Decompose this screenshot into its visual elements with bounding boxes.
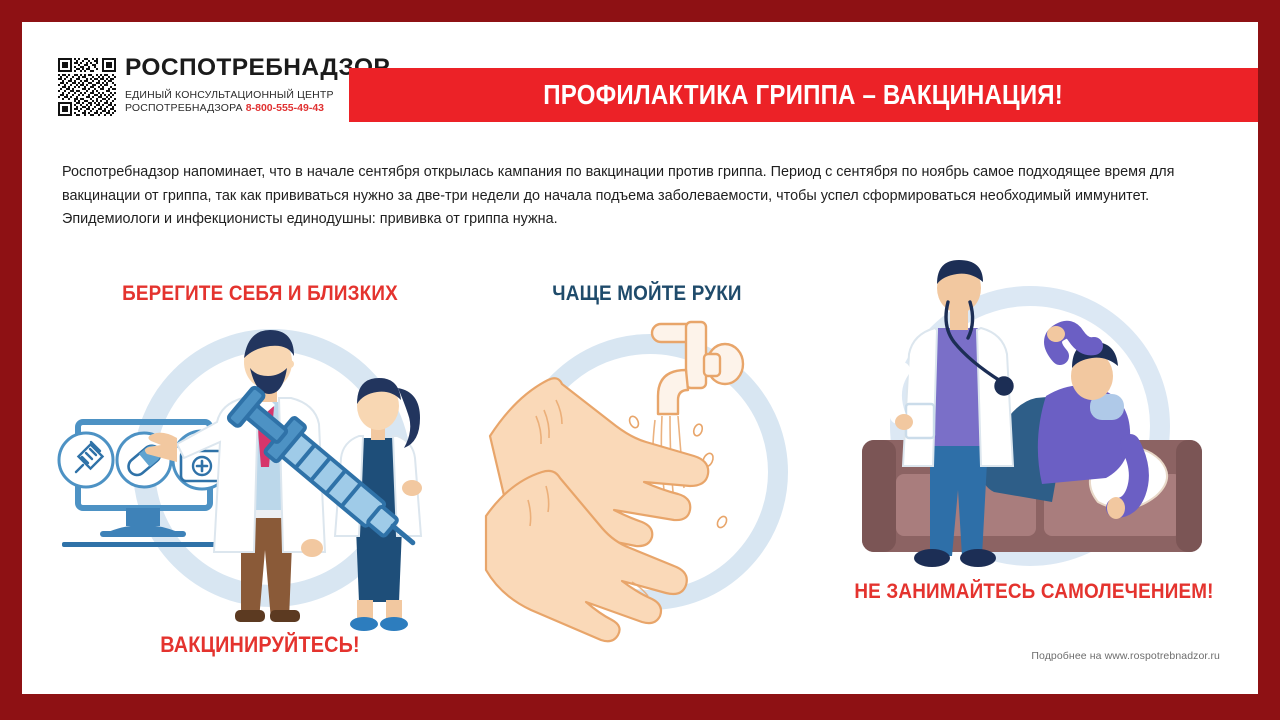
faucet-icon (652, 322, 743, 414)
illustration-doctor-patient (834, 258, 1234, 588)
footer-note: Подробнее на www.rospotrebnadzor.ru (1031, 650, 1220, 662)
panel-no-self-treatment-caption: НЕ ЗАНИМАЙТЕСЬ САМОЛЕЧЕНИЕМ! (854, 580, 1214, 604)
panel-handwashing-caption-top: ЧАЩЕ МОЙТЕ РУКИ (499, 282, 796, 306)
headline-banner: ПРОФИЛАКТИКА ГРИППА – ВАКЦИНАЦИЯ! (349, 68, 1258, 122)
intro-paragraph: Роспотребнадзор напоминает, что в начале… (62, 161, 1222, 231)
doctor-examining-patient-illustration (834, 258, 1234, 588)
doctor-nurse-syringe-illustration (60, 310, 460, 640)
panel-vaccination: БЕРЕГИТЕ СЕБЯ И БЛИЗКИХ (60, 244, 460, 664)
panel-no-self-treatment: НЕ ЗАНИМАЙТЕСЬ САМОЛЕЧЕНИЕМ! (834, 244, 1234, 664)
panel-vaccination-caption-bottom: ВАКЦИНИРУЙТЕСЬ! (80, 632, 440, 658)
poster-frame: РОСПОТРЕБНАДЗОР ЕДИНЫЙ КОНСУЛЬТАЦИОННЫЙ … (0, 0, 1280, 720)
brand-subtitle-org: РОСПОТРЕБНАДЗОРА (125, 102, 243, 114)
panel-vaccination-caption-top: БЕРЕГИТЕ СЕБЯ И БЛИЗКИХ (80, 282, 440, 306)
panel-handwashing: ЧАЩЕ МОЙТЕ РУКИ (482, 244, 812, 664)
hands-washing-illustration (482, 304, 812, 644)
qr-code-icon (58, 58, 116, 116)
poster-card: РОСПОТРЕБНАДЗОР ЕДИНЫЙ КОНСУЛЬТАЦИОННЫЙ … (22, 22, 1258, 694)
illustration-doctor-nurse (60, 310, 460, 640)
syringe-icon (59, 433, 113, 487)
panels-row: БЕРЕГИТЕ СЕБЯ И БЛИЗКИХ (44, 244, 1244, 664)
banner-title: ПРОФИЛАКТИКА ГРИППА – ВАКЦИНАЦИЯ! (544, 79, 1064, 111)
illustration-handwashing (482, 304, 812, 644)
brand-block: РОСПОТРЕБНАДЗОР ЕДИНЫЙ КОНСУЛЬТАЦИОННЫЙ … (58, 56, 390, 116)
hotline-phone[interactable]: 8-800-555-49-43 (246, 102, 324, 114)
